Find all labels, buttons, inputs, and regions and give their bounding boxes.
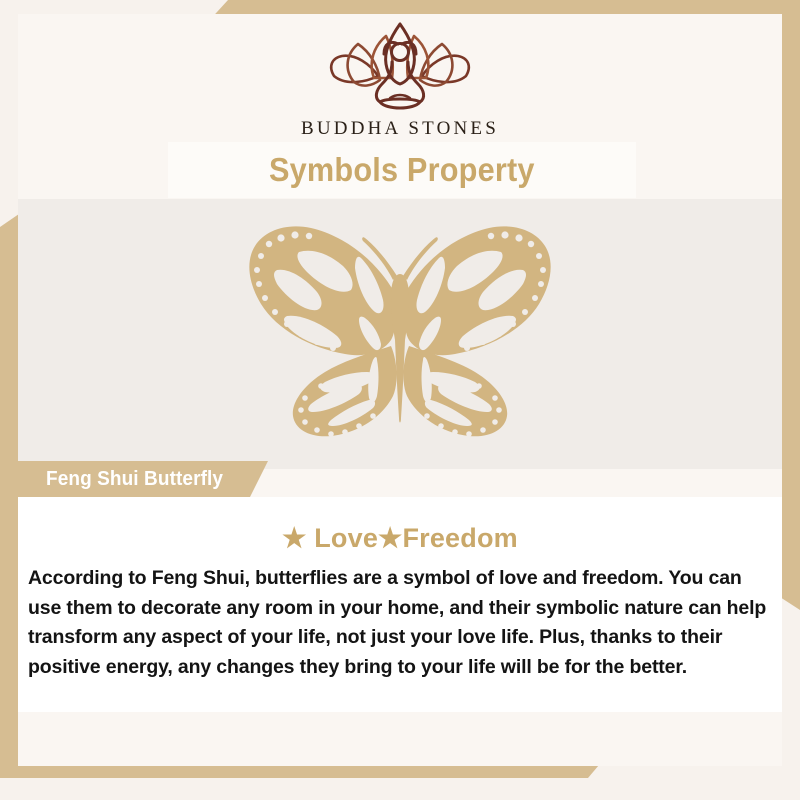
description-panel: ★ Love★Freedom According to Feng Shui, b… — [18, 497, 782, 712]
page-title: Symbols Property — [269, 151, 535, 189]
section-banner: Feng Shui Butterfly — [0, 461, 268, 497]
lotus-meditation-figure-icon — [18, 20, 782, 116]
monarch-butterfly-icon — [225, 212, 575, 449]
infographic-page: BUDDHA STONES Symbols Property — [0, 0, 800, 800]
brand-name: BUDDHA STONES — [18, 118, 782, 140]
content-subtitle: ★ Love★Freedom — [18, 497, 782, 554]
content-sheet: BUDDHA STONES Symbols Property — [18, 14, 782, 766]
hero-illustration-area — [18, 199, 782, 469]
content-paragraph: According to Feng Shui, butterflies are … — [28, 564, 772, 683]
title-band: Symbols Property — [168, 142, 636, 198]
brand-header: BUDDHA STONES — [18, 20, 782, 140]
section-banner-label: Feng Shui Butterfly — [46, 468, 223, 491]
